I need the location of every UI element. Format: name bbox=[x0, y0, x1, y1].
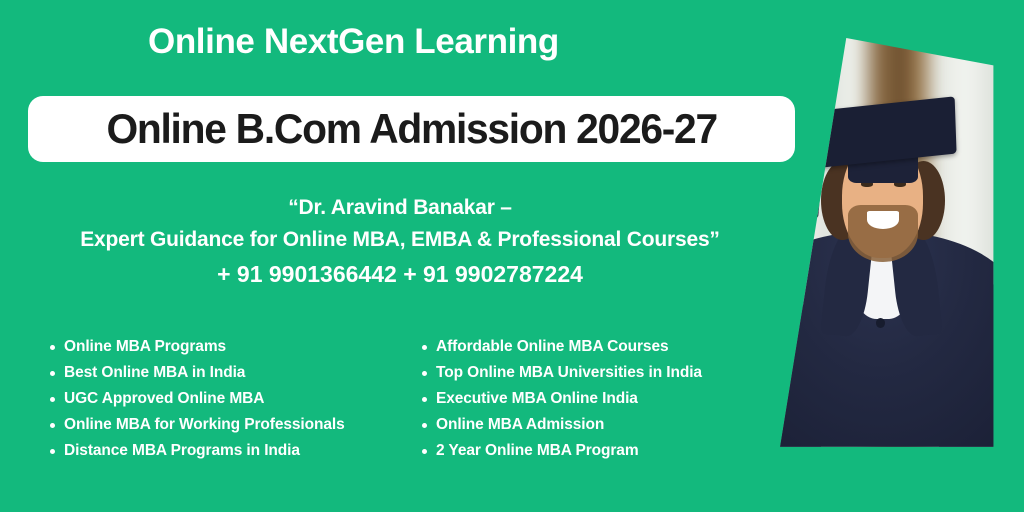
subtitle-line-1: “Dr. Aravind Banakar – bbox=[0, 192, 800, 224]
list-item: Online MBA for Working Professionals bbox=[50, 412, 422, 438]
bullet-icon bbox=[422, 397, 427, 402]
list-item: Executive MBA Online India bbox=[422, 386, 750, 412]
gown-button bbox=[876, 318, 885, 328]
keyword-label: 2 Year Online MBA Program bbox=[436, 438, 639, 464]
smile bbox=[867, 211, 899, 229]
keyword-column-left: Online MBA Programs Best Online MBA in I… bbox=[50, 334, 422, 464]
list-item: 2 Year Online MBA Program bbox=[422, 438, 750, 464]
list-item: Distance MBA Programs in India bbox=[50, 438, 422, 464]
list-item: Top Online MBA Universities in India bbox=[422, 360, 750, 386]
keyword-label: Top Online MBA Universities in India bbox=[436, 360, 702, 386]
promo-banner: Online NextGen Learning Online B.Com Adm… bbox=[0, 0, 1024, 512]
list-item: Online MBA Admission bbox=[422, 412, 750, 438]
keyword-columns: Online MBA Programs Best Online MBA in I… bbox=[50, 334, 750, 464]
subtitle-line-2: Expert Guidance for Online MBA, EMBA & P… bbox=[0, 224, 800, 256]
keyword-column-right: Affordable Online MBA Courses Top Online… bbox=[422, 334, 750, 464]
keyword-label: Executive MBA Online India bbox=[436, 386, 638, 412]
keyword-label: Online MBA Programs bbox=[64, 334, 226, 360]
bullet-icon bbox=[422, 371, 427, 376]
list-item: Online MBA Programs bbox=[50, 334, 422, 360]
keyword-label: Affordable Online MBA Courses bbox=[436, 334, 669, 360]
bullet-icon bbox=[50, 397, 55, 402]
headline-text: Online B.Com Admission 2026-27 bbox=[106, 105, 716, 153]
keyword-label: Online MBA for Working Professionals bbox=[64, 412, 345, 438]
phone-numbers: + 91 9901366442 + 91 9902787224 bbox=[0, 256, 800, 292]
bullet-icon bbox=[422, 449, 427, 454]
list-item: Affordable Online MBA Courses bbox=[422, 334, 750, 360]
bullet-icon bbox=[50, 371, 55, 376]
keyword-label: Best Online MBA in India bbox=[64, 360, 245, 386]
keyword-label: Distance MBA Programs in India bbox=[64, 438, 300, 464]
bullet-icon bbox=[50, 449, 55, 454]
keyword-label: UGC Approved Online MBA bbox=[64, 386, 264, 412]
keyword-label: Online MBA Admission bbox=[436, 412, 604, 438]
headline-pill: Online B.Com Admission 2026-27 bbox=[28, 96, 795, 162]
bullet-icon bbox=[422, 345, 427, 350]
list-item: Best Online MBA in India bbox=[50, 360, 422, 386]
list-item: UGC Approved Online MBA bbox=[50, 386, 422, 412]
bullet-icon bbox=[50, 423, 55, 428]
bullet-icon bbox=[50, 345, 55, 350]
bullet-icon bbox=[422, 423, 427, 428]
subtitle-block: “Dr. Aravind Banakar – Expert Guidance f… bbox=[0, 192, 800, 292]
brand-title: Online NextGen Learning bbox=[148, 22, 559, 62]
